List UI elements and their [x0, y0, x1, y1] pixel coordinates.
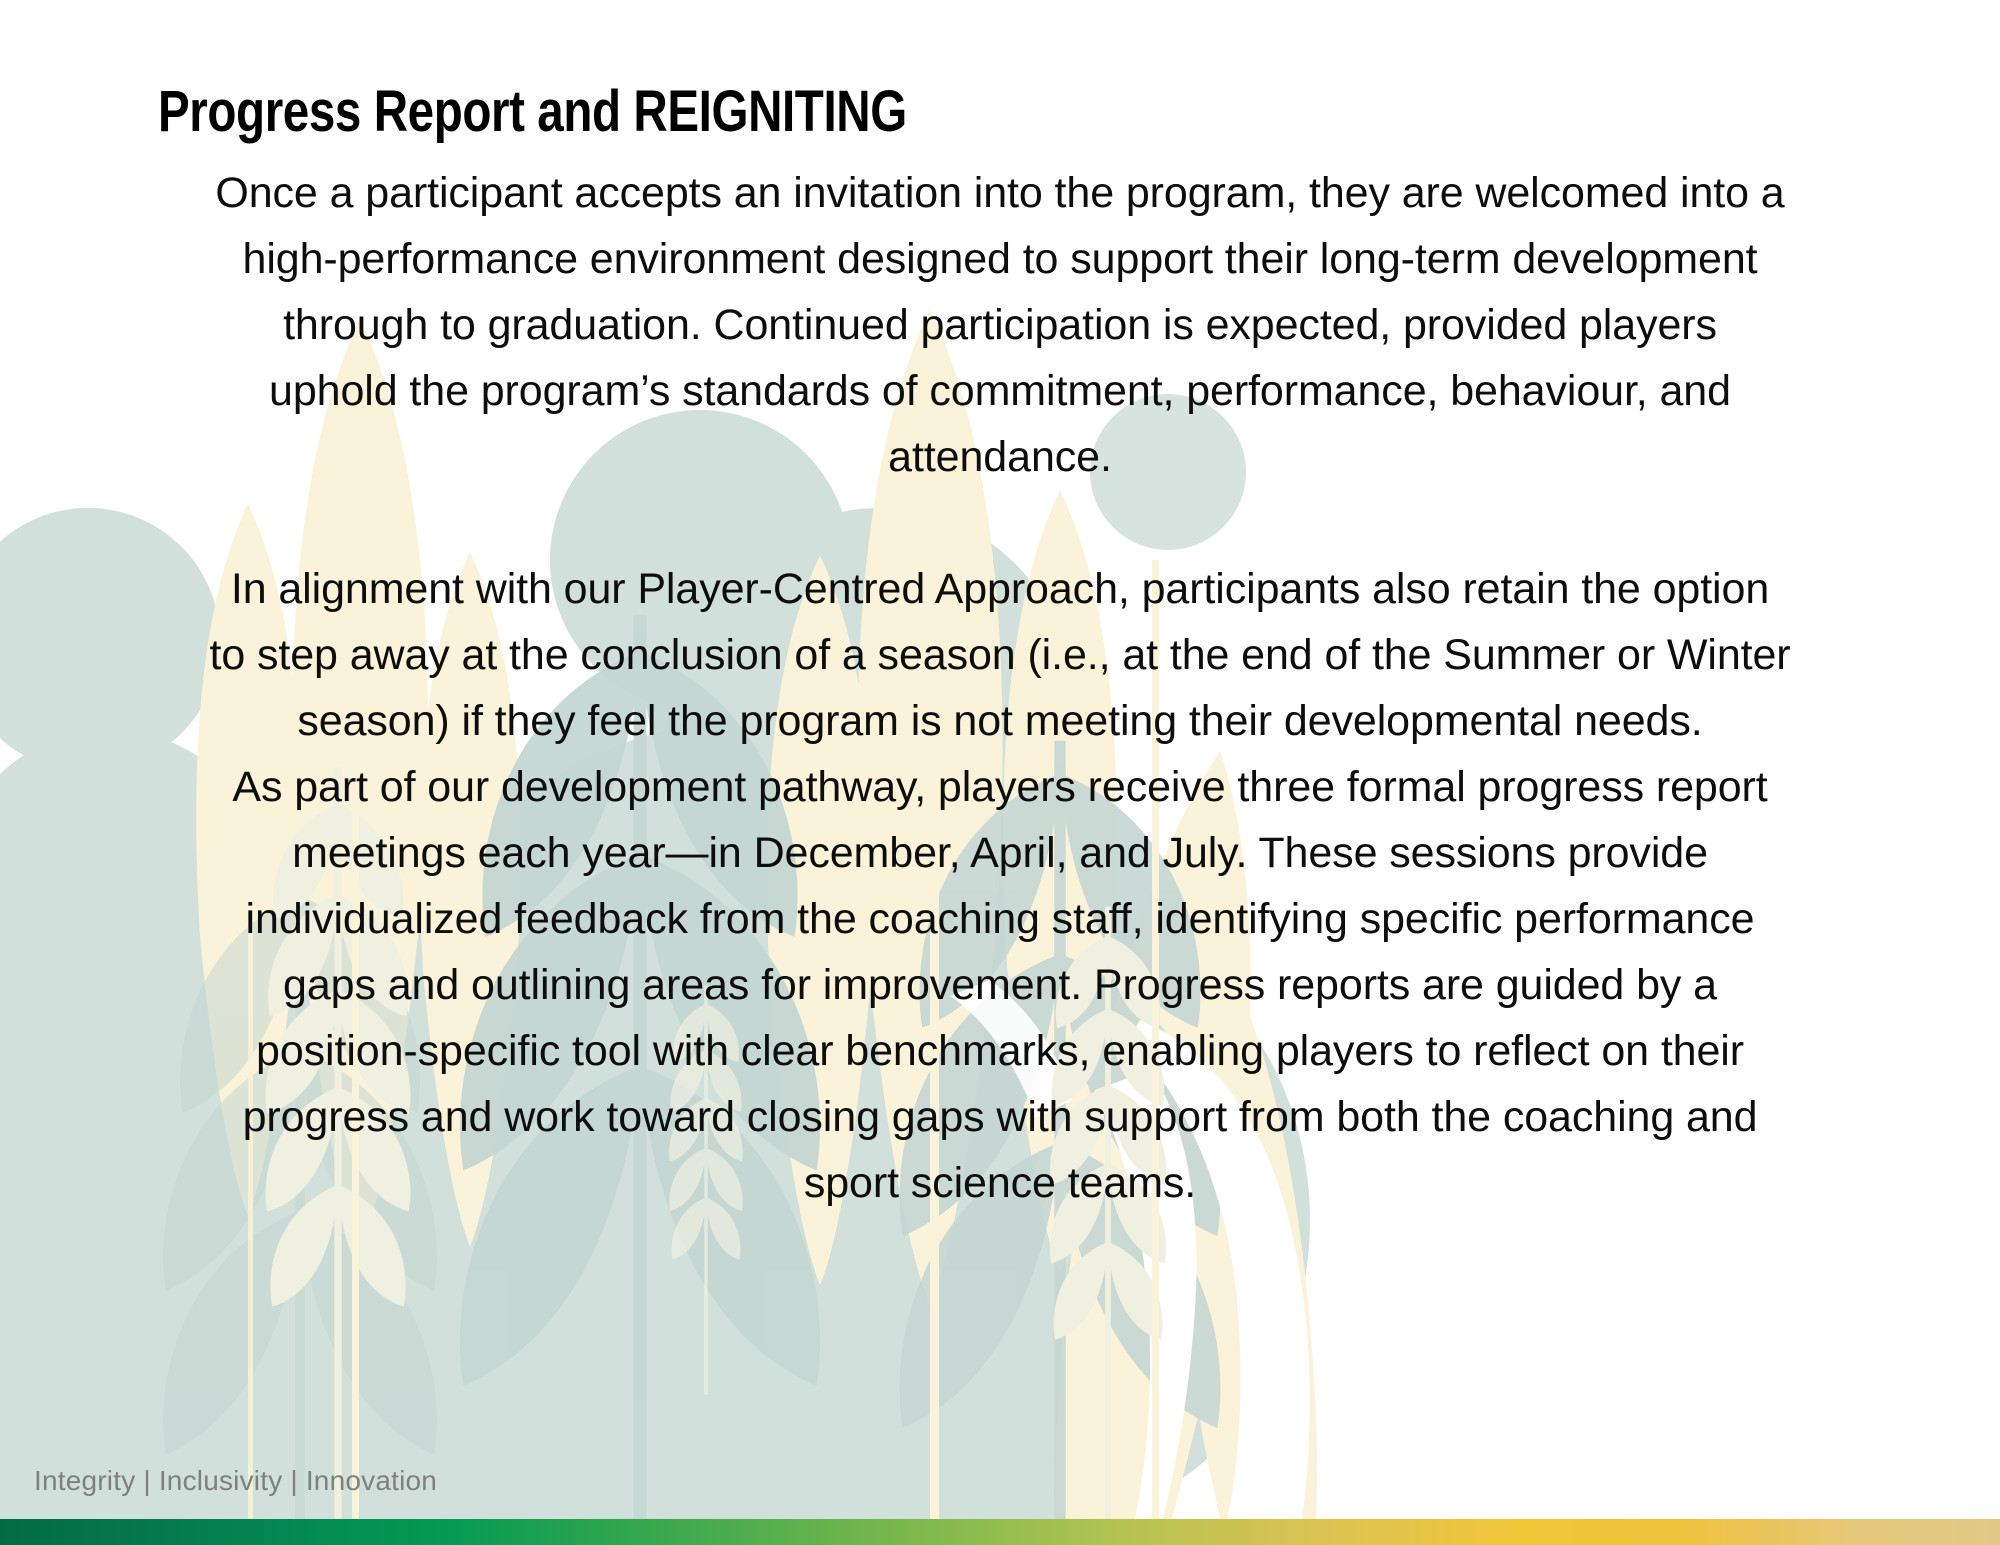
- paragraph-3: As part of our development pathway, play…: [48, 754, 1952, 1216]
- text-line: As part of our development pathway, play…: [48, 754, 1952, 820]
- text-line: gaps and outlining areas for improvement…: [48, 952, 1952, 1018]
- body-copy: Once a participant accepts an invitation…: [48, 160, 1952, 1216]
- slide-canvas: Progress Report and REIGNITING Once a pa…: [0, 0, 2000, 1545]
- text-line: high-performance environment designed to…: [48, 226, 1952, 292]
- paragraph-2: In alignment with our Player-Centred App…: [48, 556, 1952, 754]
- paragraph-1: Once a participant accepts an invitation…: [48, 160, 1952, 490]
- text-line: position-specific tool with clear benchm…: [48, 1018, 1952, 1084]
- text-line: In alignment with our Player-Centred App…: [48, 556, 1952, 622]
- paragraph-spacer: [48, 490, 1952, 556]
- text-line: through to graduation. Continued partici…: [48, 292, 1952, 358]
- page-title: Progress Report and REIGNITING: [158, 82, 907, 143]
- text-line: individualized feedback from the coachin…: [48, 886, 1952, 952]
- text-line: attendance.: [48, 424, 1952, 490]
- slide-content: Progress Report and REIGNITING Once a pa…: [0, 0, 2000, 1545]
- text-line: season) if they feel the program is not …: [48, 688, 1952, 754]
- bottom-gradient-bar: [0, 1519, 2000, 1545]
- text-line: meetings each year—in December, April, a…: [48, 820, 1952, 886]
- text-line: Once a participant accepts an invitation…: [48, 160, 1952, 226]
- text-line: sport science teams.: [48, 1150, 1952, 1216]
- text-line: uphold the program’s standards of commit…: [48, 358, 1952, 424]
- footer-tagline: Integrity | Inclusivity | Innovation: [34, 1465, 437, 1497]
- text-line: progress and work toward closing gaps wi…: [48, 1084, 1952, 1150]
- text-line: to step away at the conclusion of a seas…: [48, 622, 1952, 688]
